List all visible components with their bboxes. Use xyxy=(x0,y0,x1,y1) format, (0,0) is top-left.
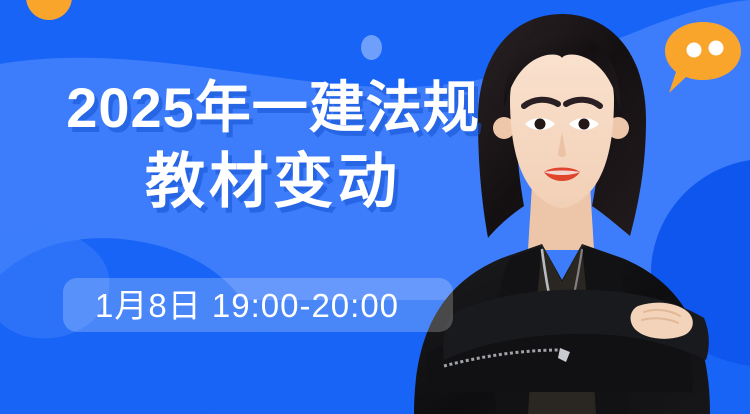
speech-bubble-icon xyxy=(663,19,743,97)
title-line-primary: 2025年一建法规 xyxy=(6,80,540,136)
banner-title: 2025年一建法规 教材变动 xyxy=(0,80,540,212)
schedule-text: 1月8日 19:00-20:00 xyxy=(95,288,399,324)
course-promo-banner: 2025年一建法规 教材变动 1月8日 19:00-20:00 xyxy=(0,0,750,414)
dot-decoration-icon xyxy=(361,35,382,60)
title-line-secondary: 教材变动 xyxy=(6,152,540,212)
